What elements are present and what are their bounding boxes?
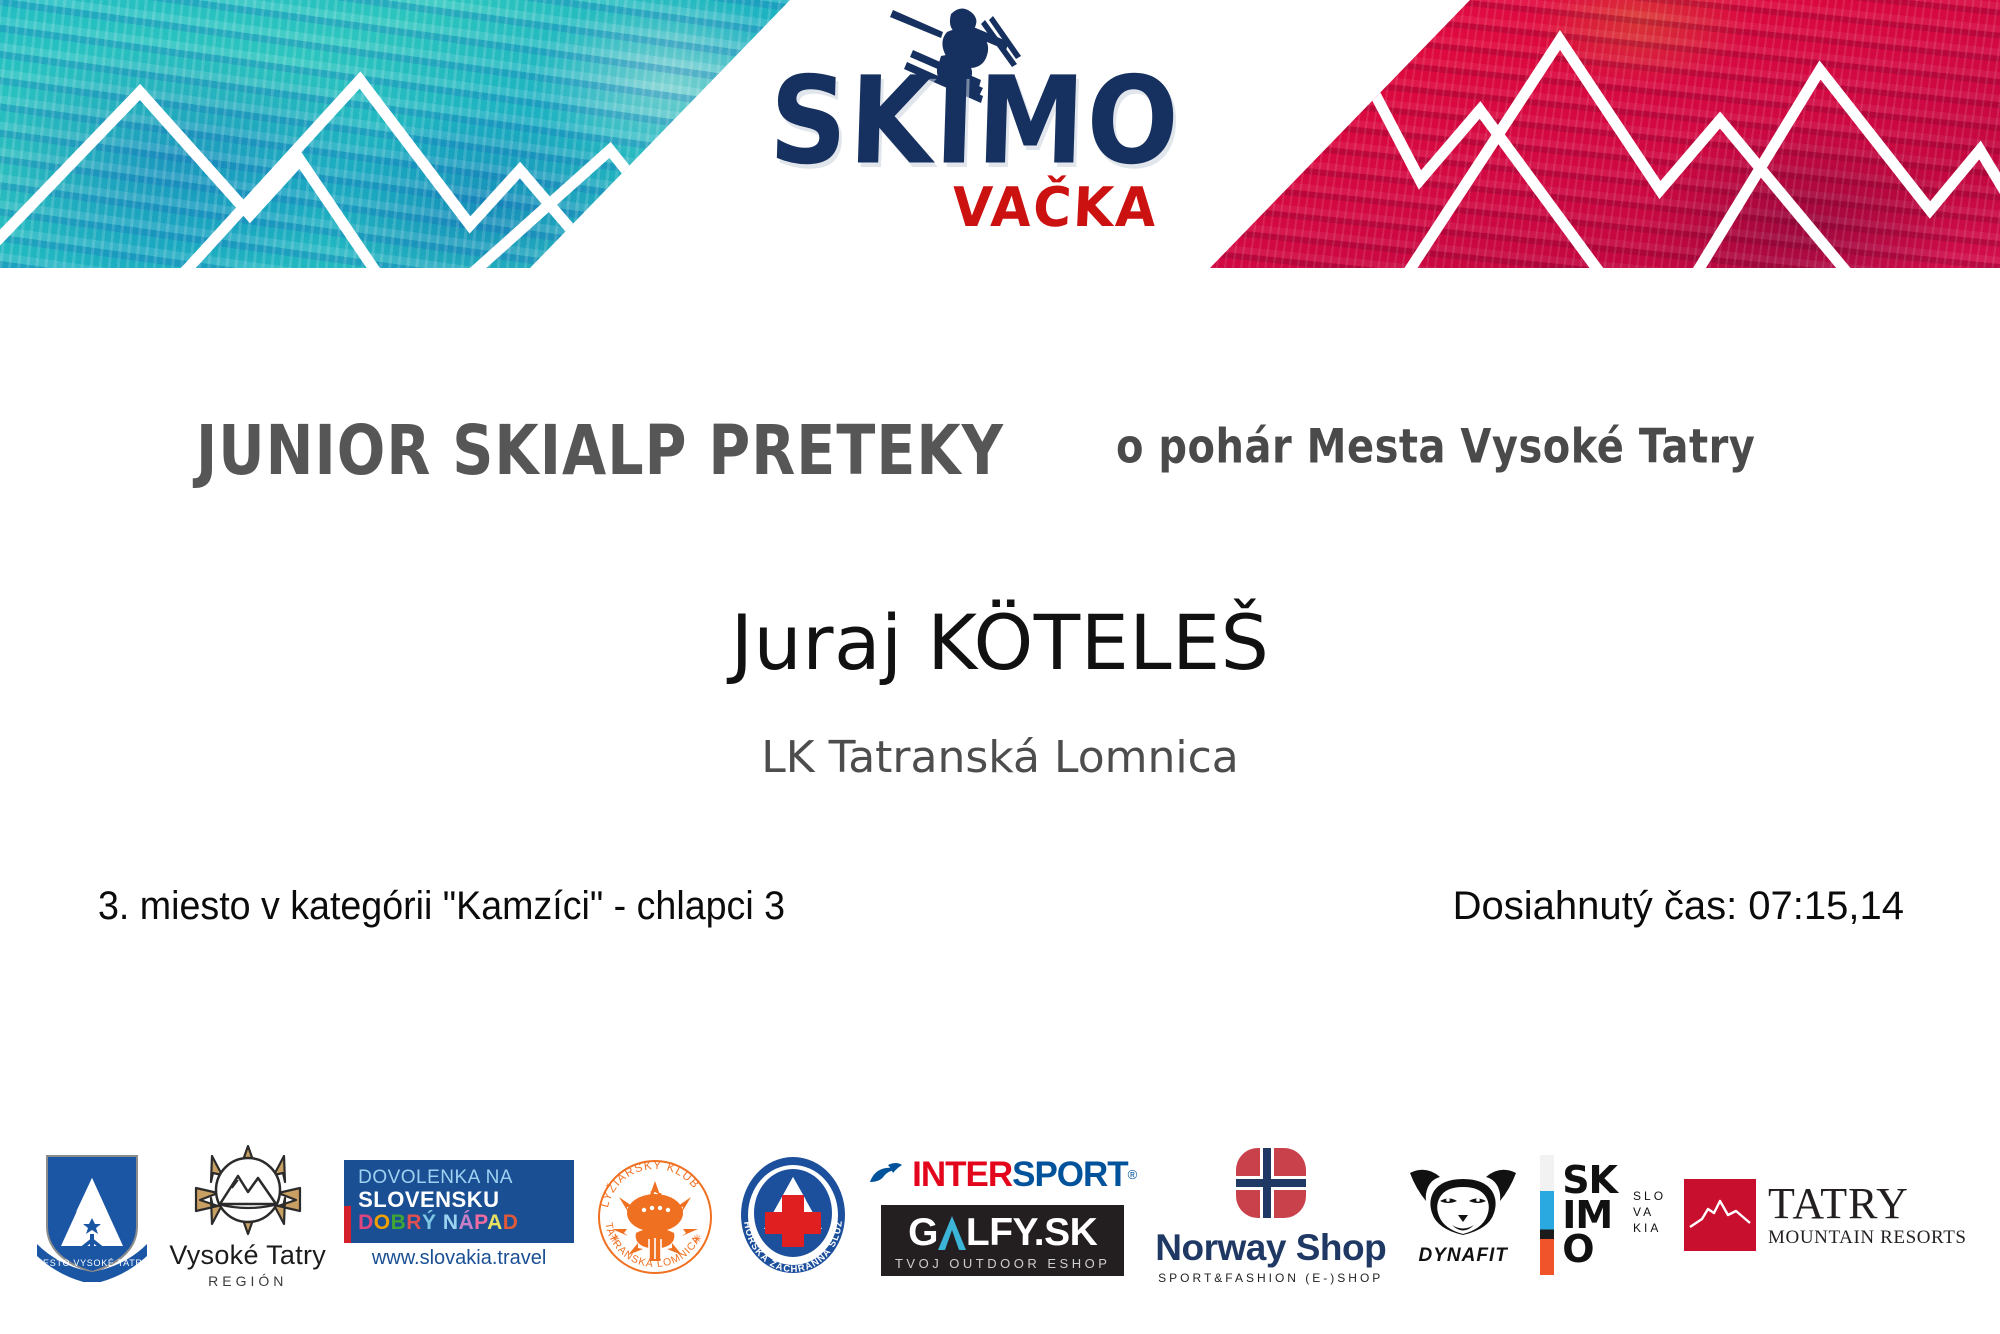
tmr-line2: MOUNTAIN RESORTS	[1768, 1228, 1967, 1249]
intersport-sport-text: SPORT	[1012, 1155, 1128, 1195]
skimo-wordmark: SKIMO	[733, 62, 1217, 183]
sponsor-logo-strip: MESTO VYSOKÉ TATRY	[0, 1120, 2000, 1310]
athlete-club: LK Tatranská Lomnica	[0, 732, 2000, 783]
slovakia-travel-line3: DOBRÝ NÁPAD	[358, 1211, 564, 1234]
norway-shop-wordmark: Norway Shop	[1155, 1227, 1386, 1269]
galfy-lfysk-text: LFY.SK	[966, 1211, 1097, 1255]
vysoke-tatry-label: Vysoké Tatry	[169, 1240, 326, 1271]
result-time: Dosiahnutý čas: 07:15,14	[1453, 884, 1904, 929]
sponsor-logo-vysoke-tatry-region: Vysoké Tatry REGIÓN	[169, 1142, 326, 1289]
skimo-slovakia-mark: SK IM O SLO VA KIA	[1540, 1155, 1666, 1275]
skimo-slovakia-wordmark: SK IM O	[1562, 1163, 1617, 1268]
certificate-page: SKIMO VAČKA JUNIOR SKIALP PRETEKY o pohá…	[0, 0, 2000, 1334]
tmr-line1: TATRY	[1768, 1182, 1967, 1226]
sponsor-logo-galfy: G LFY.SK TVOJ OUTDOOR ESHOP	[881, 1205, 1124, 1276]
skimo-logo: SKIMO VAČKA	[735, 0, 1215, 268]
event-title: JUNIOR SKIALP PRETEKY	[196, 412, 1004, 491]
intersport-swoosh-icon	[868, 1160, 912, 1190]
sponsor-logo-dynafit: DYNAFIT	[1404, 1163, 1522, 1267]
galfy-wordmark: G LFY.SK	[908, 1211, 1097, 1255]
sponsor-logo-slovakia-travel: DOVOLENKA NA SLOVENSKU DOBRÝ NÁPAD www.s…	[344, 1160, 574, 1270]
header-banner: SKIMO VAČKA	[0, 0, 2000, 268]
sponsor-logo-mesto-vysoke-tatry: MESTO VYSOKÉ TATRY	[33, 1148, 151, 1282]
sponsor-logo-intersport-galfy-stack: INTERSPORT® G LFY.SK TVOJ OUTDOOR ESHOP	[868, 1155, 1137, 1276]
svg-text:✳: ✳	[692, 1232, 702, 1246]
sponsor-logo-lyziarsky-klub: LYŽIARSKY KLUB TATRANSKÁ LOMNICA ✳ ✳	[592, 1151, 718, 1279]
svg-text:MESTO VYSOKÉ TATRY: MESTO VYSOKÉ TATRY	[35, 1258, 149, 1268]
edelweiss-mountain-icon	[188, 1142, 308, 1238]
norway-shop-tagline: SPORT&FASHION (E-)SHOP	[1158, 1271, 1383, 1285]
intersport-inter-text: INTER	[912, 1155, 1012, 1195]
slovakia-travel-line1: DOVOLENKA NA	[358, 1168, 564, 1188]
norway-flag-icon	[1230, 1146, 1312, 1224]
skimo-country-line2: VA	[1633, 1204, 1666, 1220]
result-category: 3. miesto v kategórii "Kamzíci" - chlapc…	[98, 884, 785, 929]
tmr-mark: TATRY MOUNTAIN RESORTS	[1684, 1179, 1967, 1251]
athlete-name: Juraj KÖTELEŠ	[0, 598, 2000, 687]
sponsor-logo-intersport: INTERSPORT®	[868, 1155, 1137, 1195]
vysoke-tatry-region-label: REGIÓN	[208, 1273, 287, 1289]
dynafit-leopard-icon	[1404, 1163, 1522, 1241]
svg-text:✳: ✳	[610, 1232, 620, 1246]
tmr-red-square-mountain-icon	[1684, 1179, 1756, 1251]
skimo-country-line1: SLO	[1633, 1188, 1666, 1204]
ski-club-emblem-icon: LYŽIARSKY KLUB TATRANSKÁ LOMNICA ✳ ✳	[592, 1151, 718, 1279]
event-title-row: JUNIOR SKIALP PRETEKY o pohár Mesta Vyso…	[0, 412, 2000, 492]
skimo-slovakia-row3: O	[1562, 1232, 1617, 1267]
sponsor-logo-tatry-mountain-resorts: TATRY MOUNTAIN RESORTS	[1684, 1179, 1967, 1251]
sponsor-logo-skimo-slovakia: SK IM O SLO VA KIA	[1540, 1155, 1666, 1275]
skimo-slovakia-country: SLO VA KIA	[1633, 1188, 1666, 1243]
galfy-mountain-a-icon	[937, 1214, 967, 1252]
galfy-tagline: TVOJ OUTDOOR ESHOP	[895, 1256, 1110, 1271]
skimo-country-line3: KIA	[1633, 1220, 1666, 1236]
vacka-wordmark: VAČKA	[734, 181, 1297, 236]
skimo-slovakia-color-bar	[1540, 1155, 1554, 1275]
mountain-rescue-emblem-icon: HORSKÁ ZÁCHRANNÁ SLUŽBA	[736, 1151, 850, 1279]
slovakia-travel-url: www.slovakia.travel	[372, 1247, 547, 1270]
slovakia-travel-line2: SLOVENSKU	[358, 1188, 564, 1211]
event-subtitle: o pohár Mesta Vysoké Tatry	[1116, 420, 1755, 474]
intersport-trademark: ®	[1128, 1167, 1138, 1182]
sponsor-logo-norway-shop: Norway Shop SPORT&FASHION (E-)SHOP	[1155, 1146, 1386, 1285]
dynafit-wordmark: DYNAFIT	[1419, 1245, 1508, 1267]
result-row: 3. miesto v kategórii "Kamzíci" - chlapc…	[0, 884, 2000, 944]
sponsor-logo-horska-zachranna-sluzba: HORSKÁ ZÁCHRANNÁ SLUŽBA	[736, 1151, 850, 1279]
coat-of-arms-icon: MESTO VYSOKÉ TATRY	[33, 1148, 151, 1282]
galfy-g-text: G	[908, 1211, 938, 1255]
slovakia-travel-badge: DOVOLENKA NA SLOVENSKU DOBRÝ NÁPAD	[344, 1160, 574, 1243]
